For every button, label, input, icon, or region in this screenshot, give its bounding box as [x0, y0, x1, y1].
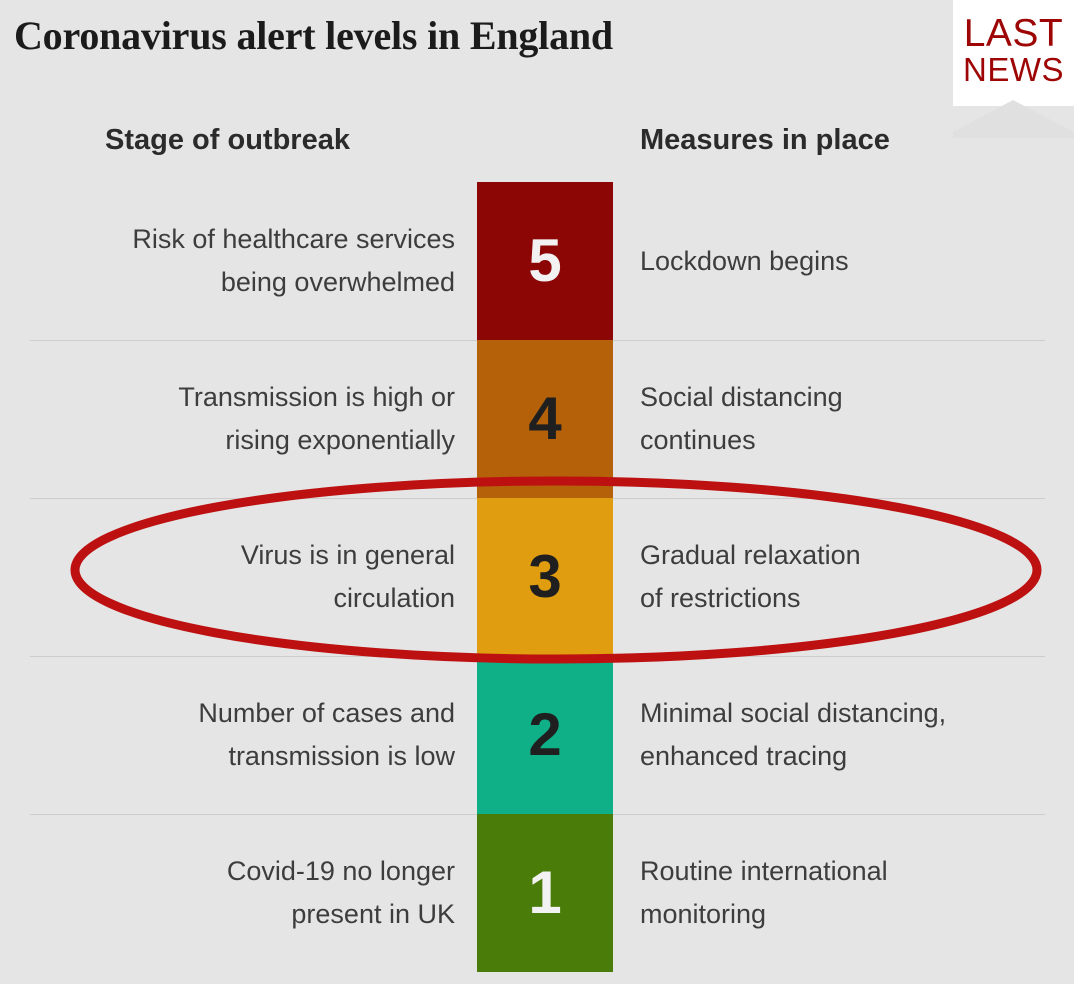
column-header-measures: Measures in place [640, 124, 890, 157]
measure-text-line-1: Lockdown begins [640, 240, 849, 283]
measure-text-line-2: monitoring [640, 893, 766, 936]
stage-text-line-1: Number of cases and [198, 692, 455, 735]
stage-text-line-2: circulation [333, 577, 455, 620]
alert-level-number: 3 [528, 547, 561, 607]
measure-text-line-2: enhanced tracing [640, 735, 847, 778]
measures-in-place-cell: Social distancingcontinues [640, 340, 1060, 498]
stage-text-line-2: being overwhelmed [221, 261, 455, 304]
measures-in-place-cell: Gradual relaxationof restrictions [640, 498, 1060, 656]
watermark-last-news: LAST NEWS [953, 0, 1074, 140]
stage-text-line-1: Covid-19 no longer [227, 850, 455, 893]
stage-of-outbreak-cell: Risk of healthcare servicesbeing overwhe… [0, 182, 455, 340]
alert-level-band: 5 [477, 182, 613, 340]
measures-in-place-cell: Routine internationalmonitoring [640, 814, 1060, 972]
watermark-line-2: NEWS [953, 53, 1074, 86]
stage-of-outbreak-cell: Virus is in generalcirculation [0, 498, 455, 656]
measure-text-line-2: continues [640, 419, 756, 462]
stage-text-line-2: transmission is low [228, 735, 455, 778]
stage-text-line-2: rising exponentially [225, 419, 455, 462]
alert-level-number: 4 [528, 389, 561, 449]
measure-text-line-1: Social distancing [640, 376, 843, 419]
watermark-line-1: LAST [953, 14, 1074, 53]
alert-level-band: 4 [477, 340, 613, 498]
page-title: Coronavirus alert levels in England [14, 10, 613, 62]
alert-level-number: 5 [528, 231, 561, 291]
alert-level-row: Covid-19 no longerpresent in UK1Routine … [0, 814, 1074, 972]
stage-of-outbreak-cell: Covid-19 no longerpresent in UK [0, 814, 455, 972]
alert-level-band: 2 [477, 656, 613, 814]
measures-in-place-cell: Minimal social distancing,enhanced traci… [640, 656, 1060, 814]
alert-level-band: 3 [477, 498, 613, 656]
alert-levels-table: Risk of healthcare servicesbeing overwhe… [0, 182, 1074, 972]
stage-text-line-2: present in UK [291, 893, 455, 936]
watermark-chevron-icon [953, 100, 1074, 138]
stage-of-outbreak-cell: Number of cases andtransmission is low [0, 656, 455, 814]
alert-level-band: 1 [477, 814, 613, 972]
column-header-stage: Stage of outbreak [0, 124, 455, 157]
measures-in-place-cell: Lockdown begins [640, 182, 1060, 340]
stage-text-line-1: Transmission is high or [178, 376, 455, 419]
stage-of-outbreak-cell: Transmission is high orrising exponentia… [0, 340, 455, 498]
alert-level-number: 1 [528, 863, 561, 923]
measure-text-line-1: Gradual relaxation [640, 534, 861, 577]
alert-level-row: Risk of healthcare servicesbeing overwhe… [0, 182, 1074, 340]
coronavirus-alert-levels-infographic: Coronavirus alert levels in England Stag… [0, 0, 1074, 984]
alert-level-row: Virus is in generalcirculation3Gradual r… [0, 498, 1074, 656]
measure-text-line-1: Minimal social distancing, [640, 692, 946, 735]
stage-text-line-1: Virus is in general [241, 534, 455, 577]
measure-text-line-2: of restrictions [640, 577, 801, 620]
alert-level-row: Transmission is high orrising exponentia… [0, 340, 1074, 498]
measure-text-line-1: Routine international [640, 850, 888, 893]
stage-text-line-1: Risk of healthcare services [132, 218, 455, 261]
alert-level-number: 2 [528, 705, 561, 765]
alert-level-row: Number of cases andtransmission is low2M… [0, 656, 1074, 814]
